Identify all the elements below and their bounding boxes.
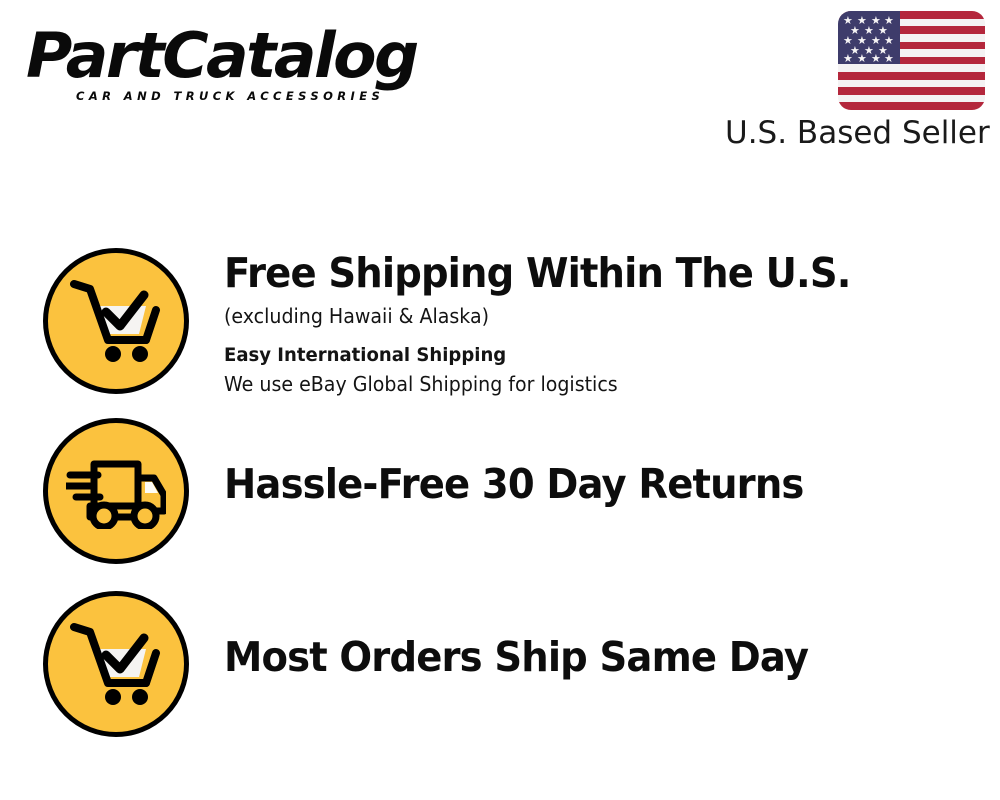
feature-text-block: Most Orders Ship Same Day: [189, 591, 1000, 681]
flag-stripe: [838, 102, 985, 110]
flag-stripe: [838, 87, 985, 95]
flag-canton: ★ ★ ★ ★ ★ ★ ★ ★ ★ ★ ★ ★ ★ ★ ★ ★ ★ ★: [838, 11, 900, 64]
shopping-cart-check-icon: [43, 591, 189, 737]
feature-heading: Most Orders Ship Same Day: [224, 634, 953, 681]
flag-stripe: [838, 80, 985, 88]
feature-text-block: Hassle-Free 30 Day Returns: [189, 418, 1000, 508]
us-based-seller-badge: ★ ★ ★ ★ ★ ★ ★ ★ ★ ★ ★ ★ ★ ★ ★ ★ ★ ★ U.S.…: [725, 11, 985, 151]
feature-row: Most Orders Ship Same Day: [0, 591, 1000, 737]
feature-subtext-logistics: We use eBay Global Shipping for logistic…: [224, 370, 961, 398]
delivery-truck-icon: [43, 418, 189, 564]
feature-text-block: Free Shipping Within The U.S. (excluding…: [189, 248, 1000, 398]
feature-heading: Free Shipping Within The U.S.: [224, 250, 953, 297]
feature-row: Hassle-Free 30 Day Returns: [0, 418, 1000, 564]
shopping-cart-check-icon: [43, 248, 189, 394]
flag-stripe: [838, 72, 985, 80]
feature-subtext-international: Easy International Shipping: [224, 341, 961, 369]
feature-subtext-exclusion: (excluding Hawaii & Alaska): [224, 302, 961, 330]
banner-header: PartCatalog CAR AND TRUCK ACCESSORIES ★ …: [0, 0, 1000, 170]
feature-heading: Hassle-Free 30 Day Returns: [224, 461, 953, 508]
flag-stripe: [838, 64, 985, 72]
us-flag-icon: ★ ★ ★ ★ ★ ★ ★ ★ ★ ★ ★ ★ ★ ★ ★ ★ ★ ★: [838, 11, 985, 110]
feature-row: Free Shipping Within The U.S. (excluding…: [0, 248, 1000, 398]
flag-stripe: [838, 95, 985, 103]
logo-wordmark: PartCatalog: [26, 24, 505, 88]
brand-logo[interactable]: PartCatalog CAR AND TRUCK ACCESSORIES: [26, 24, 496, 103]
seller-badge-label: U.S. Based Seller: [725, 115, 985, 151]
